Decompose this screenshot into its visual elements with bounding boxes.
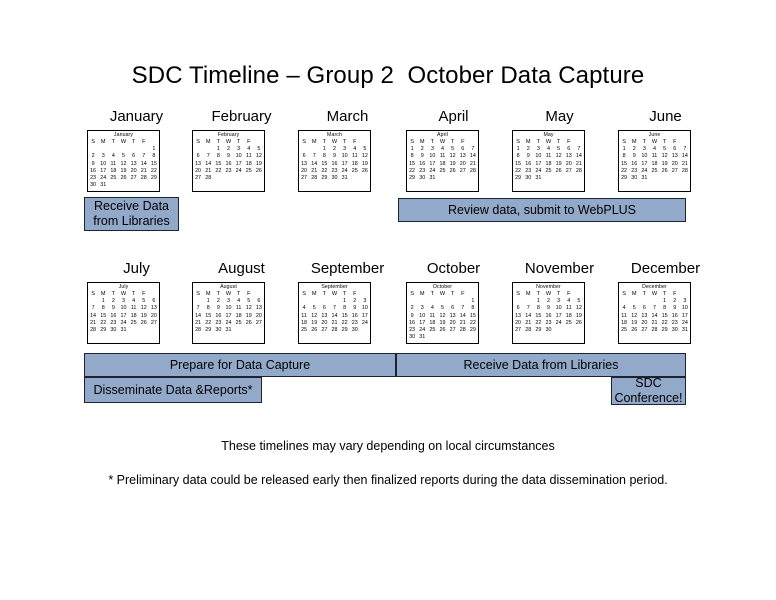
calendar-day-cell[interactable]: 10 bbox=[234, 153, 244, 160]
calendar-day-cell[interactable]: 5 bbox=[554, 146, 564, 153]
calendar-day-cell[interactable]: 2 bbox=[543, 298, 553, 305]
calendar-day-cell[interactable]: 14 bbox=[523, 313, 533, 320]
calendar-day-cell[interactable]: 15 bbox=[513, 161, 523, 168]
calendar-day-cell[interactable]: 27 bbox=[129, 175, 139, 182]
calendar-day-cell[interactable]: 12 bbox=[554, 153, 564, 160]
calendar-day-cell[interactable]: 23 bbox=[88, 175, 98, 182]
calendar-day-cell[interactable]: 23 bbox=[329, 168, 339, 175]
calendar-day-cell[interactable]: 29 bbox=[468, 327, 478, 334]
calendar-day-cell[interactable]: 12 bbox=[660, 153, 670, 160]
calendar-day-cell[interactable]: 11 bbox=[350, 153, 360, 160]
calendar-day-cell[interactable]: 20 bbox=[448, 320, 458, 327]
calendar-day-cell[interactable]: 16 bbox=[213, 313, 223, 320]
calendar-day-cell[interactable]: 20 bbox=[513, 320, 523, 327]
calendar-day-cell[interactable]: 30 bbox=[523, 175, 533, 182]
calendar-day-cell[interactable]: 20 bbox=[639, 320, 649, 327]
calendar-day-cell[interactable]: 26 bbox=[554, 168, 564, 175]
calendar-day-cell[interactable]: 6 bbox=[319, 305, 329, 312]
calendar-day-cell[interactable]: 25 bbox=[350, 168, 360, 175]
calendar-day-cell[interactable]: 22 bbox=[340, 320, 350, 327]
calendar-day-cell[interactable]: 12 bbox=[574, 305, 584, 312]
calendar-day-cell[interactable]: 28 bbox=[458, 327, 468, 334]
calendar-day-cell[interactable]: 12 bbox=[118, 161, 128, 168]
calendar-day-cell[interactable]: 14 bbox=[329, 313, 339, 320]
calendar-day-cell[interactable]: 13 bbox=[458, 153, 468, 160]
calendar-day-cell[interactable]: 12 bbox=[244, 305, 254, 312]
calendar-day-cell[interactable]: 24 bbox=[234, 168, 244, 175]
calendar-day-cell[interactable]: 23 bbox=[543, 320, 553, 327]
calendar-day-cell[interactable]: 18 bbox=[649, 161, 659, 168]
calendar-day-cell[interactable]: 3 bbox=[360, 298, 370, 305]
calendar-day-cell[interactable]: 14 bbox=[203, 161, 213, 168]
calendar-day-cell[interactable]: 25 bbox=[427, 327, 437, 334]
calendar-day-cell[interactable]: 26 bbox=[309, 327, 319, 334]
calendar-day-cell[interactable]: 4 bbox=[619, 305, 629, 312]
calendar-day-cell[interactable]: 23 bbox=[108, 320, 118, 327]
calendar-day-cell[interactable]: 15 bbox=[213, 161, 223, 168]
calendar-day-cell[interactable]: 22 bbox=[513, 168, 523, 175]
calendar-day-cell[interactable]: 2 bbox=[329, 146, 339, 153]
calendar-day-cell[interactable]: 29 bbox=[340, 327, 350, 334]
calendar-day-cell[interactable]: 15 bbox=[660, 313, 670, 320]
calendar-day-cell[interactable]: 28 bbox=[88, 327, 98, 334]
calendar-day-cell[interactable]: 24 bbox=[340, 168, 350, 175]
calendar-day-cell[interactable]: 8 bbox=[213, 153, 223, 160]
calendar-day-cell[interactable]: 26 bbox=[254, 168, 264, 175]
calendar-day-cell[interactable]: 10 bbox=[118, 305, 128, 312]
calendar-day-cell[interactable]: 31 bbox=[417, 334, 427, 341]
calendar-day-cell[interactable]: 15 bbox=[319, 161, 329, 168]
calendar-day-cell[interactable]: 2 bbox=[670, 298, 680, 305]
calendar-day-cell[interactable]: 28 bbox=[203, 175, 213, 182]
calendar-day-cell[interactable]: 21 bbox=[88, 320, 98, 327]
calendar-day-cell[interactable]: 4 bbox=[649, 146, 659, 153]
calendar-day-cell[interactable]: 29 bbox=[533, 327, 543, 334]
calendar-day-cell[interactable]: 5 bbox=[660, 146, 670, 153]
calendar-day-cell[interactable]: 13 bbox=[149, 305, 159, 312]
calendar-day-cell[interactable]: 16 bbox=[523, 161, 533, 168]
calendar-day-cell[interactable]: 1 bbox=[203, 298, 213, 305]
calendar-day-cell[interactable]: 4 bbox=[437, 146, 447, 153]
calendar-day-cell[interactable]: 6 bbox=[448, 305, 458, 312]
calendar-day-cell[interactable]: 16 bbox=[108, 313, 118, 320]
calendar-day-cell[interactable]: 7 bbox=[139, 153, 149, 160]
calendar-day-cell[interactable]: 21 bbox=[193, 320, 203, 327]
calendar-day-cell[interactable]: 30 bbox=[629, 175, 639, 182]
calendar-day-cell[interactable]: 4 bbox=[234, 298, 244, 305]
bar-receive-data-from-libraries-h2[interactable]: Receive Data from Libraries bbox=[396, 353, 686, 377]
calendar-day-cell[interactable]: 11 bbox=[437, 153, 447, 160]
calendar-day-cell[interactable]: 23 bbox=[223, 168, 233, 175]
calendar-day-cell[interactable]: 21 bbox=[680, 161, 690, 168]
calendar-day-cell[interactable]: 14 bbox=[193, 313, 203, 320]
calendar-day-cell[interactable]: 5 bbox=[437, 305, 447, 312]
calendar-day-cell[interactable]: 31 bbox=[639, 175, 649, 182]
calendar-day-cell[interactable]: 1 bbox=[468, 298, 478, 305]
calendar-day-cell[interactable]: 23 bbox=[417, 168, 427, 175]
calendar-day-cell[interactable]: 5 bbox=[360, 146, 370, 153]
calendar-day-cell[interactable]: 10 bbox=[340, 153, 350, 160]
calendar-day-cell[interactable]: 21 bbox=[309, 168, 319, 175]
calendar-day-cell[interactable]: 18 bbox=[543, 161, 553, 168]
calendar-day-cell[interactable]: 1 bbox=[407, 146, 417, 153]
calendar-day-cell[interactable]: 12 bbox=[629, 313, 639, 320]
calendar-day-cell[interactable]: 25 bbox=[234, 320, 244, 327]
calendar-day-cell[interactable]: 16 bbox=[350, 313, 360, 320]
calendar-day-cell[interactable]: 13 bbox=[448, 313, 458, 320]
calendar-day-cell[interactable]: 27 bbox=[193, 175, 203, 182]
calendar-day-cell[interactable]: 29 bbox=[660, 327, 670, 334]
calendar-day-cell[interactable]: 28 bbox=[680, 168, 690, 175]
calendar-day-cell[interactable]: 11 bbox=[427, 313, 437, 320]
calendar-day-cell[interactable]: 24 bbox=[427, 168, 437, 175]
calendar-day-cell[interactable]: 8 bbox=[319, 153, 329, 160]
calendar-day-cell[interactable]: 28 bbox=[139, 175, 149, 182]
bar-disseminate-data-and-reports[interactable]: Disseminate Data &Reports* bbox=[84, 377, 262, 403]
calendar-day-cell[interactable]: 10 bbox=[223, 305, 233, 312]
calendar-day-cell[interactable]: 2 bbox=[417, 146, 427, 153]
calendar-day-cell[interactable]: 18 bbox=[619, 320, 629, 327]
calendar-day-cell[interactable]: 29 bbox=[619, 175, 629, 182]
calendar-day-cell[interactable]: 4 bbox=[427, 305, 437, 312]
calendar-day-cell[interactable]: 9 bbox=[329, 153, 339, 160]
calendar-day-cell[interactable]: 1 bbox=[213, 146, 223, 153]
calendar-day-cell[interactable]: 8 bbox=[513, 153, 523, 160]
calendar-day-cell[interactable]: 10 bbox=[427, 153, 437, 160]
calendar-day-cell[interactable]: 17 bbox=[234, 161, 244, 168]
calendar-day-cell[interactable]: 17 bbox=[680, 313, 690, 320]
calendar-day-cell[interactable]: 6 bbox=[564, 146, 574, 153]
calendar-day-cell[interactable]: 5 bbox=[309, 305, 319, 312]
calendar-day-cell[interactable]: 22 bbox=[149, 168, 159, 175]
calendar-day-cell[interactable]: 29 bbox=[513, 175, 523, 182]
calendar-day-cell[interactable]: 18 bbox=[299, 320, 309, 327]
calendar-day-cell[interactable]: 31 bbox=[118, 327, 128, 334]
calendar-day-cell[interactable]: 26 bbox=[360, 168, 370, 175]
calendar-day-cell[interactable]: 6 bbox=[254, 298, 264, 305]
calendar-day-cell[interactable]: 26 bbox=[660, 168, 670, 175]
calendar-day-cell[interactable]: 1 bbox=[319, 146, 329, 153]
calendar-day-cell[interactable]: 17 bbox=[639, 161, 649, 168]
calendar-day-cell[interactable]: 8 bbox=[468, 305, 478, 312]
calendar-day-cell[interactable]: 10 bbox=[680, 305, 690, 312]
calendar-day-cell[interactable]: 5 bbox=[244, 298, 254, 305]
calendar-day-cell[interactable]: 24 bbox=[417, 327, 427, 334]
calendar-day-cell[interactable]: 31 bbox=[98, 182, 108, 189]
calendar-day-cell[interactable]: 25 bbox=[437, 168, 447, 175]
calendar-day-cell[interactable]: 23 bbox=[350, 320, 360, 327]
calendar-day-cell[interactable]: 7 bbox=[649, 305, 659, 312]
calendar-day-cell[interactable]: 28 bbox=[309, 175, 319, 182]
calendar-day-cell[interactable]: 14 bbox=[649, 313, 659, 320]
calendar-day-cell[interactable]: 1 bbox=[513, 146, 523, 153]
calendar-day-cell[interactable]: 3 bbox=[554, 298, 564, 305]
calendar-day-cell[interactable]: 18 bbox=[564, 313, 574, 320]
calendar-day-cell[interactable]: 31 bbox=[427, 175, 437, 182]
calendar-day-cell[interactable]: 11 bbox=[619, 313, 629, 320]
calendar-day-cell[interactable]: 28 bbox=[574, 168, 584, 175]
calendar-day-cell[interactable]: 6 bbox=[513, 305, 523, 312]
calendar-day-cell[interactable]: 12 bbox=[360, 153, 370, 160]
calendar-day-cell[interactable]: 6 bbox=[129, 153, 139, 160]
calendar-day-cell[interactable]: 20 bbox=[564, 161, 574, 168]
calendar-day-cell[interactable]: 17 bbox=[554, 313, 564, 320]
calendar-day-cell[interactable]: 4 bbox=[244, 146, 254, 153]
calendar-day-cell[interactable]: 13 bbox=[639, 313, 649, 320]
calendar-day-cell[interactable]: 30 bbox=[407, 334, 417, 341]
calendar-day-cell[interactable]: 27 bbox=[254, 320, 264, 327]
calendar-day-cell[interactable]: 20 bbox=[458, 161, 468, 168]
calendar-day-cell[interactable]: 30 bbox=[543, 327, 553, 334]
calendar-day-cell[interactable]: 29 bbox=[203, 327, 213, 334]
calendar-day-cell[interactable]: 4 bbox=[543, 146, 553, 153]
calendar-day-cell[interactable]: 3 bbox=[340, 146, 350, 153]
calendar-day-cell[interactable]: 28 bbox=[468, 168, 478, 175]
calendar-day-cell[interactable]: 27 bbox=[513, 327, 523, 334]
calendar-day-cell[interactable]: 2 bbox=[223, 146, 233, 153]
calendar-day-cell[interactable]: 9 bbox=[88, 161, 98, 168]
calendar-day-cell[interactable]: 8 bbox=[149, 153, 159, 160]
calendar-day-cell[interactable]: 13 bbox=[670, 153, 680, 160]
calendar-day-cell[interactable]: 21 bbox=[574, 161, 584, 168]
calendar-day-cell[interactable]: 24 bbox=[223, 320, 233, 327]
bar-prepare-for-data-capture[interactable]: Prepare for Data Capture bbox=[84, 353, 396, 377]
calendar-day-cell[interactable]: 17 bbox=[98, 168, 108, 175]
calendar-day-cell[interactable]: 21 bbox=[649, 320, 659, 327]
calendar-day-cell[interactable]: 4 bbox=[108, 153, 118, 160]
calendar-day-cell[interactable]: 13 bbox=[319, 313, 329, 320]
calendar-day-cell[interactable]: 26 bbox=[244, 320, 254, 327]
calendar-day-cell[interactable]: 3 bbox=[118, 298, 128, 305]
calendar-day-cell[interactable]: 3 bbox=[417, 305, 427, 312]
calendar-day-cell[interactable]: 6 bbox=[299, 153, 309, 160]
calendar-day-cell[interactable]: 28 bbox=[649, 327, 659, 334]
bar-review-data-submit-to-webplus[interactable]: Review data, submit to WebPLUS bbox=[398, 198, 686, 222]
calendar-day-cell[interactable]: 11 bbox=[649, 153, 659, 160]
calendar-day-cell[interactable]: 3 bbox=[223, 298, 233, 305]
calendar-day-cell[interactable]: 1 bbox=[533, 298, 543, 305]
calendar-day-cell[interactable]: 27 bbox=[149, 320, 159, 327]
calendar-day-cell[interactable]: 21 bbox=[458, 320, 468, 327]
calendar-day-cell[interactable]: 10 bbox=[639, 153, 649, 160]
calendar-day-cell[interactable]: 29 bbox=[319, 175, 329, 182]
calendar-day-cell[interactable]: 9 bbox=[417, 153, 427, 160]
calendar-day-cell[interactable]: 23 bbox=[523, 168, 533, 175]
calendar-day-cell[interactable]: 8 bbox=[619, 153, 629, 160]
calendar-day-cell[interactable]: 19 bbox=[448, 161, 458, 168]
calendar-day-cell[interactable]: 31 bbox=[340, 175, 350, 182]
calendar-day-cell[interactable]: 8 bbox=[660, 305, 670, 312]
calendar-day-cell[interactable]: 30 bbox=[213, 327, 223, 334]
calendar-day-cell[interactable]: 8 bbox=[98, 305, 108, 312]
calendar-day-cell[interactable]: 5 bbox=[118, 153, 128, 160]
calendar-day-cell[interactable]: 25 bbox=[129, 320, 139, 327]
calendar-day-cell[interactable]: 23 bbox=[629, 168, 639, 175]
calendar-day-cell[interactable]: 13 bbox=[129, 161, 139, 168]
calendar-day-cell[interactable]: 21 bbox=[203, 168, 213, 175]
calendar-day-cell[interactable]: 19 bbox=[118, 168, 128, 175]
calendar-day-cell[interactable]: 20 bbox=[319, 320, 329, 327]
calendar-day-cell[interactable]: 20 bbox=[254, 313, 264, 320]
calendar-day-cell[interactable]: 31 bbox=[680, 327, 690, 334]
calendar-day-cell[interactable]: 11 bbox=[108, 161, 118, 168]
calendar-day-cell[interactable]: 16 bbox=[543, 313, 553, 320]
calendar-day-cell[interactable]: 12 bbox=[448, 153, 458, 160]
calendar-day-cell[interactable]: 19 bbox=[254, 161, 264, 168]
calendar-day-cell[interactable]: 21 bbox=[329, 320, 339, 327]
calendar-day-cell[interactable]: 25 bbox=[108, 175, 118, 182]
calendar-day-cell[interactable]: 2 bbox=[350, 298, 360, 305]
calendar-day-cell[interactable]: 28 bbox=[329, 327, 339, 334]
calendar-day-cell[interactable]: 11 bbox=[129, 305, 139, 312]
calendar-day-cell[interactable]: 27 bbox=[319, 327, 329, 334]
calendar-day-cell[interactable]: 6 bbox=[458, 146, 468, 153]
calendar-day-cell[interactable]: 9 bbox=[407, 313, 417, 320]
calendar-day-cell[interactable]: 25 bbox=[244, 168, 254, 175]
calendar-day-cell[interactable]: 16 bbox=[88, 168, 98, 175]
calendar-day-cell[interactable]: 9 bbox=[223, 153, 233, 160]
calendar-day-cell[interactable]: 27 bbox=[639, 327, 649, 334]
calendar-day-cell[interactable]: 9 bbox=[213, 305, 223, 312]
calendar-day-cell[interactable]: 16 bbox=[670, 313, 680, 320]
calendar-day-cell[interactable]: 9 bbox=[629, 153, 639, 160]
calendar-day-cell[interactable]: 22 bbox=[319, 168, 329, 175]
calendar-day-cell[interactable]: 7 bbox=[309, 153, 319, 160]
calendar-day-cell[interactable]: 18 bbox=[437, 161, 447, 168]
calendar-day-cell[interactable]: 22 bbox=[468, 320, 478, 327]
calendar-day-cell[interactable]: 18 bbox=[350, 161, 360, 168]
calendar-day-cell[interactable]: 8 bbox=[340, 305, 350, 312]
calendar-day-cell[interactable]: 19 bbox=[554, 161, 564, 168]
calendar-day-cell[interactable]: 5 bbox=[574, 298, 584, 305]
calendar-day-cell[interactable]: 26 bbox=[574, 320, 584, 327]
calendar-day-cell[interactable]: 26 bbox=[629, 327, 639, 334]
calendar-day-cell[interactable]: 25 bbox=[564, 320, 574, 327]
calendar-day-cell[interactable]: 10 bbox=[554, 305, 564, 312]
calendar-day-cell[interactable]: 16 bbox=[407, 320, 417, 327]
calendar-day-cell[interactable]: 8 bbox=[533, 305, 543, 312]
calendar-day-cell[interactable]: 9 bbox=[350, 305, 360, 312]
calendar-day-cell[interactable]: 1 bbox=[149, 146, 159, 153]
calendar-day-cell[interactable]: 9 bbox=[670, 305, 680, 312]
calendar-day-cell[interactable]: 14 bbox=[680, 153, 690, 160]
calendar-day-cell[interactable]: 20 bbox=[193, 168, 203, 175]
calendar-day-cell[interactable]: 13 bbox=[254, 305, 264, 312]
calendar-day-cell[interactable]: 19 bbox=[437, 320, 447, 327]
calendar-day-cell[interactable]: 22 bbox=[660, 320, 670, 327]
calendar-day-cell[interactable]: 11 bbox=[244, 153, 254, 160]
calendar-day-cell[interactable]: 3 bbox=[680, 298, 690, 305]
calendar-day-cell[interactable]: 13 bbox=[193, 161, 203, 168]
calendar-day-cell[interactable]: 6 bbox=[149, 298, 159, 305]
calendar-day-cell[interactable]: 25 bbox=[649, 168, 659, 175]
calendar-day-cell[interactable]: 11 bbox=[299, 313, 309, 320]
calendar-day-cell[interactable]: 2 bbox=[523, 146, 533, 153]
calendar-day-cell[interactable]: 17 bbox=[340, 161, 350, 168]
calendar-day-cell[interactable]: 29 bbox=[98, 327, 108, 334]
calendar-day-cell[interactable]: 30 bbox=[670, 327, 680, 334]
calendar-day-cell[interactable]: 19 bbox=[360, 161, 370, 168]
calendar-day-cell[interactable]: 15 bbox=[98, 313, 108, 320]
calendar-day-cell[interactable]: 15 bbox=[203, 313, 213, 320]
calendar-day-cell[interactable]: 10 bbox=[533, 153, 543, 160]
calendar-day-cell[interactable]: 2 bbox=[108, 298, 118, 305]
calendar-day-cell[interactable]: 8 bbox=[407, 153, 417, 160]
calendar-day-cell[interactable]: 4 bbox=[299, 305, 309, 312]
calendar-day-cell[interactable]: 30 bbox=[329, 175, 339, 182]
calendar-day-cell[interactable]: 27 bbox=[299, 175, 309, 182]
calendar-day-cell[interactable]: 6 bbox=[193, 153, 203, 160]
calendar-day-cell[interactable]: 26 bbox=[448, 168, 458, 175]
calendar-day-cell[interactable]: 29 bbox=[149, 175, 159, 182]
calendar-day-cell[interactable]: 25 bbox=[619, 327, 629, 334]
calendar-day-cell[interactable]: 15 bbox=[468, 313, 478, 320]
calendar-day-cell[interactable]: 15 bbox=[340, 313, 350, 320]
calendar-day-cell[interactable]: 21 bbox=[523, 320, 533, 327]
calendar-day-cell[interactable]: 13 bbox=[513, 313, 523, 320]
calendar-day-cell[interactable]: 11 bbox=[564, 305, 574, 312]
calendar-day-cell[interactable]: 28 bbox=[193, 327, 203, 334]
calendar-day-cell[interactable]: 5 bbox=[254, 146, 264, 153]
calendar-day-cell[interactable]: 17 bbox=[118, 313, 128, 320]
calendar-day-cell[interactable]: 7 bbox=[88, 305, 98, 312]
calendar-day-cell[interactable]: 5 bbox=[448, 146, 458, 153]
calendar-day-cell[interactable]: 3 bbox=[427, 146, 437, 153]
calendar-day-cell[interactable]: 12 bbox=[437, 313, 447, 320]
calendar-day-cell[interactable]: 7 bbox=[329, 305, 339, 312]
calendar-day-cell[interactable]: 26 bbox=[139, 320, 149, 327]
calendar-day-cell[interactable]: 22 bbox=[213, 168, 223, 175]
calendar-day-cell[interactable]: 7 bbox=[680, 146, 690, 153]
calendar-day-cell[interactable]: 27 bbox=[448, 327, 458, 334]
calendar-day-cell[interactable]: 16 bbox=[223, 161, 233, 168]
calendar-day-cell[interactable]: 2 bbox=[629, 146, 639, 153]
calendar-day-cell[interactable]: 2 bbox=[88, 153, 98, 160]
calendar-day-cell[interactable]: 4 bbox=[350, 146, 360, 153]
calendar-day-cell[interactable]: 20 bbox=[670, 161, 680, 168]
calendar-day-cell[interactable]: 15 bbox=[407, 161, 417, 168]
calendar-day-cell[interactable]: 18 bbox=[129, 313, 139, 320]
calendar-day-cell[interactable]: 11 bbox=[543, 153, 553, 160]
calendar-day-cell[interactable]: 19 bbox=[139, 313, 149, 320]
calendar-day-cell[interactable]: 3 bbox=[639, 146, 649, 153]
calendar-day-cell[interactable]: 7 bbox=[458, 305, 468, 312]
calendar-day-cell[interactable]: 20 bbox=[299, 168, 309, 175]
calendar-day-cell[interactable]: 14 bbox=[88, 313, 98, 320]
calendar-day-cell[interactable]: 20 bbox=[129, 168, 139, 175]
calendar-day-cell[interactable]: 18 bbox=[234, 313, 244, 320]
calendar-day-cell[interactable]: 30 bbox=[108, 327, 118, 334]
calendar-day-cell[interactable]: 8 bbox=[203, 305, 213, 312]
calendar-day-cell[interactable]: 19 bbox=[244, 313, 254, 320]
bar-receive-data-from-libraries-h1[interactable]: Receive Datafrom Libraries bbox=[84, 197, 179, 231]
calendar-day-cell[interactable]: 26 bbox=[118, 175, 128, 182]
calendar-day-cell[interactable]: 7 bbox=[203, 153, 213, 160]
calendar-day-cell[interactable]: 24 bbox=[533, 168, 543, 175]
calendar-day-cell[interactable]: 24 bbox=[98, 175, 108, 182]
calendar-day-cell[interactable]: 15 bbox=[619, 161, 629, 168]
calendar-day-cell[interactable]: 21 bbox=[468, 161, 478, 168]
calendar-day-cell[interactable]: 3 bbox=[234, 146, 244, 153]
calendar-day-cell[interactable]: 12 bbox=[139, 305, 149, 312]
calendar-day-cell[interactable]: 14 bbox=[139, 161, 149, 168]
calendar-day-cell[interactable]: 19 bbox=[629, 320, 639, 327]
calendar-day-cell[interactable]: 7 bbox=[523, 305, 533, 312]
calendar-day-cell[interactable]: 16 bbox=[417, 161, 427, 168]
calendar-day-cell[interactable]: 30 bbox=[417, 175, 427, 182]
calendar-day-cell[interactable]: 5 bbox=[139, 298, 149, 305]
calendar-day-cell[interactable]: 5 bbox=[629, 305, 639, 312]
